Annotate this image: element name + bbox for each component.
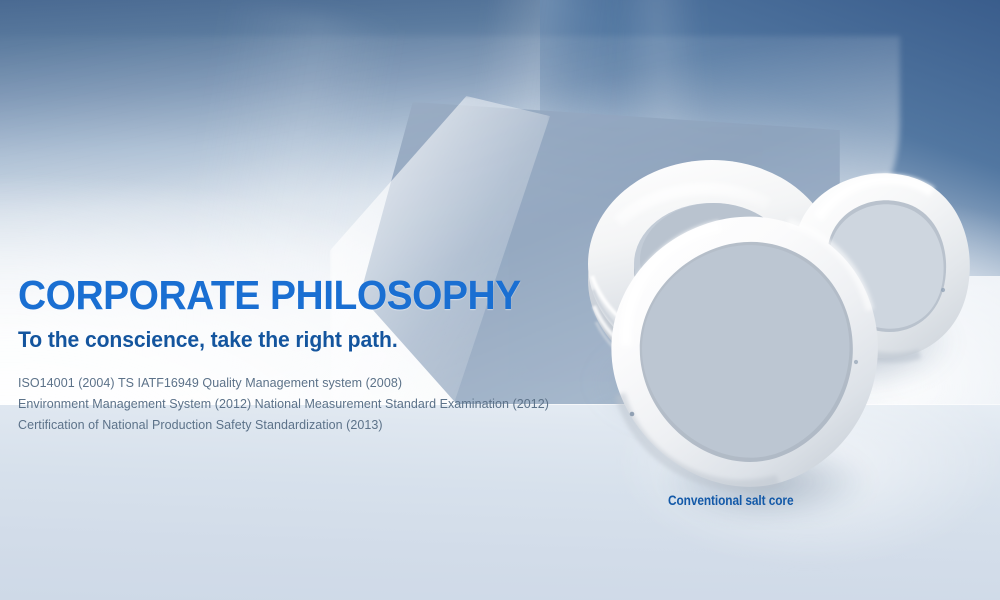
certification-line: Environment Management System (2012) Nat…	[18, 394, 628, 415]
certification-line: Certification of National Production Saf…	[18, 415, 628, 436]
ring-front	[611, 217, 877, 487]
philosophy-copy-block: CORPORATE PHILOSOPHY To the conscience, …	[18, 274, 628, 436]
corporate-philosophy-banner: CORPORATE PHILOSOPHY To the conscience, …	[0, 0, 1000, 600]
page-title: CORPORATE PHILOSOPHY	[18, 274, 598, 317]
product-caption: Conventional salt core	[668, 493, 793, 508]
certification-line: ISO14001 (2004) TS IATF16949 Quality Man…	[18, 373, 628, 394]
certifications-list: ISO14001 (2004) TS IATF16949 Quality Man…	[18, 373, 628, 436]
page-subtitle: To the conscience, take the right path.	[18, 327, 604, 353]
